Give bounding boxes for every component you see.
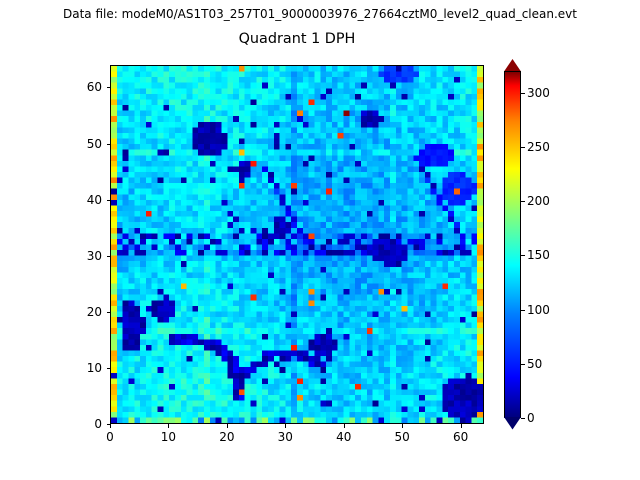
y-tick-mark xyxy=(107,368,111,369)
colorbar-tick-mark xyxy=(521,255,525,256)
colorbar-tick-label: 300 xyxy=(527,86,550,100)
y-tick-label: 30 xyxy=(70,249,102,263)
x-tick-label: 20 xyxy=(219,430,234,444)
x-tick-mark xyxy=(227,424,228,428)
y-tick-label: 60 xyxy=(70,80,102,94)
y-tick-label: 20 xyxy=(70,305,102,319)
colorbar-tick-label: 50 xyxy=(527,357,542,371)
colorbar-extend-min-arrow xyxy=(504,417,521,430)
x-tick-label: 50 xyxy=(395,430,410,444)
y-tick-label: 40 xyxy=(70,193,102,207)
colorbar-tick-mark xyxy=(521,364,525,365)
x-tick-label: 60 xyxy=(453,430,468,444)
colorbar[interactable]: 050100150200250300 xyxy=(504,59,521,430)
x-tick-label: 40 xyxy=(336,430,351,444)
colorbar-tick-label: 200 xyxy=(527,194,550,208)
x-tick-mark xyxy=(344,424,345,428)
x-tick-mark xyxy=(110,424,111,428)
x-tick-label: 30 xyxy=(278,430,293,444)
y-tick-mark xyxy=(107,87,111,88)
x-tick-mark xyxy=(461,424,462,428)
x-tick-label: 10 xyxy=(161,430,176,444)
colorbar-tick-mark xyxy=(521,418,525,419)
colorbar-tick-label: 250 xyxy=(527,140,550,154)
x-tick-label: 0 xyxy=(106,430,114,444)
heatmap-axes[interactable] xyxy=(110,65,484,424)
y-tick-mark xyxy=(107,256,111,257)
colorbar-tick-label: 150 xyxy=(527,248,550,262)
colorbar-tick-mark xyxy=(521,201,525,202)
figure-suptitle: Data file: modeM0/AS1T03_257T01_90000039… xyxy=(0,7,640,21)
y-tick-mark xyxy=(107,200,111,201)
y-tick-label: 10 xyxy=(70,361,102,375)
colorbar-extend-max-arrow xyxy=(504,59,521,72)
y-tick-mark xyxy=(107,144,111,145)
plot-title: Quadrant 1 DPH xyxy=(110,31,484,47)
y-tick-mark xyxy=(107,312,111,313)
dph-heatmap-image[interactable] xyxy=(111,66,483,423)
colorbar-tick-mark xyxy=(521,93,525,94)
x-tick-mark xyxy=(402,424,403,428)
y-tick-mark xyxy=(107,424,111,425)
x-tick-mark xyxy=(285,424,286,428)
colorbar-tick-label: 100 xyxy=(527,303,550,317)
colorbar-tick-label: 0 xyxy=(527,411,535,425)
colorbar-gradient xyxy=(504,71,521,418)
colorbar-tick-mark xyxy=(521,310,525,311)
y-tick-label: 50 xyxy=(70,137,102,151)
matplotlib-figure: Data file: modeM0/AS1T03_257T01_90000039… xyxy=(0,0,640,480)
colorbar-tick-mark xyxy=(521,147,525,148)
y-tick-label: 0 xyxy=(70,417,102,431)
x-tick-mark xyxy=(168,424,169,428)
